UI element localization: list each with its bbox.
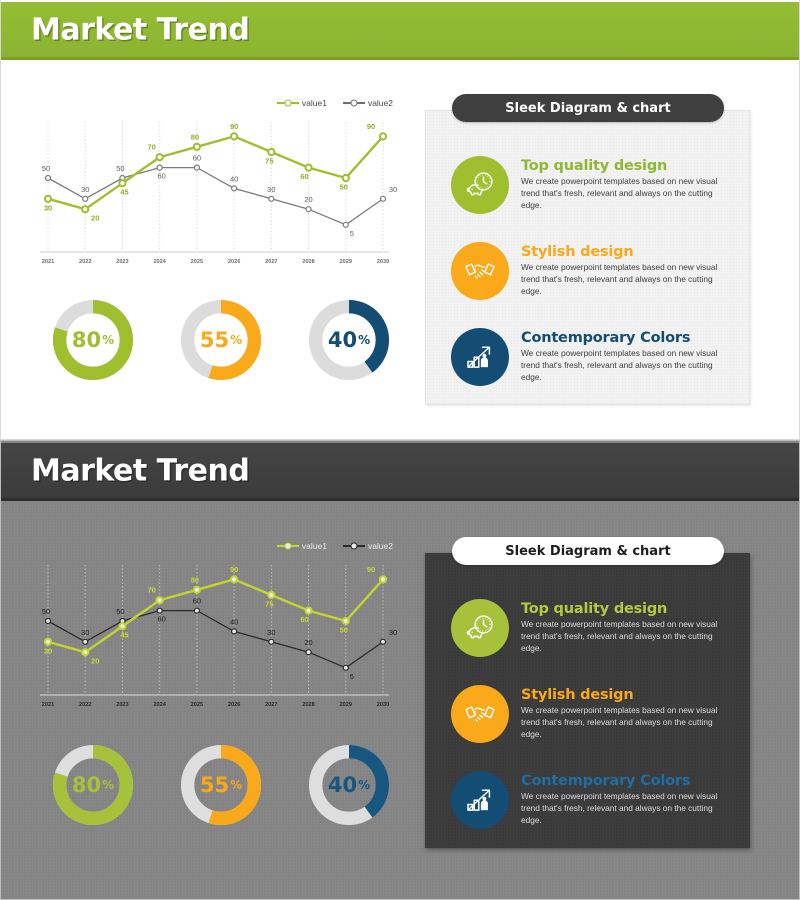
svg-text:60: 60 xyxy=(300,615,308,624)
feature-panel-light: Sleek Diagram & chart Top quality design… xyxy=(425,110,750,405)
donut-chart[interactable]: 40% xyxy=(305,741,393,829)
svg-text:40: 40 xyxy=(230,617,238,626)
svg-text:60: 60 xyxy=(193,154,201,163)
title-bar-light: Market Trend xyxy=(1,2,800,60)
feature-body: We create powerpoint templates based on … xyxy=(521,705,732,740)
svg-text:2029: 2029 xyxy=(340,259,352,265)
svg-text:90: 90 xyxy=(230,565,238,574)
donut-percent-label: 80% xyxy=(49,296,137,384)
feature-body: We create powerpoint templates based on … xyxy=(521,176,732,211)
growth-bar-person-icon xyxy=(451,771,509,829)
donut-percent-label: 40% xyxy=(305,296,393,384)
piggy-bank-clock-icon xyxy=(451,156,509,214)
svg-text:30: 30 xyxy=(267,185,275,194)
legend-item-value2[interactable]: value2 xyxy=(343,98,393,108)
growth-bar-person-icon xyxy=(451,328,509,386)
svg-text:70: 70 xyxy=(147,586,155,595)
feature-body: We create powerpoint templates based on … xyxy=(521,262,732,297)
svg-text:20: 20 xyxy=(91,657,99,666)
svg-text:30: 30 xyxy=(44,646,52,655)
svg-text:50: 50 xyxy=(340,183,348,192)
feature-body: We create powerpoint templates based on … xyxy=(521,619,732,654)
feature-item[interactable]: Contemporary Colors We create powerpoint… xyxy=(425,757,750,843)
svg-text:40: 40 xyxy=(230,174,238,183)
line-chart-light: value1 value2 50305060604030205303020457… xyxy=(15,96,415,276)
donut-chart[interactable]: 55% xyxy=(177,296,265,384)
legend-label: value1 xyxy=(302,541,327,551)
svg-text:2022: 2022 xyxy=(79,702,91,708)
svg-text:50: 50 xyxy=(116,164,124,173)
svg-text:60: 60 xyxy=(300,172,308,181)
svg-text:2027: 2027 xyxy=(265,259,277,265)
svg-text:50: 50 xyxy=(340,626,348,635)
handshake-icon xyxy=(451,242,509,300)
svg-text:30: 30 xyxy=(81,628,89,637)
donut-percent-label: 55% xyxy=(177,741,265,829)
svg-text:30: 30 xyxy=(267,628,275,637)
feature-list: Top quality design We create powerpoint … xyxy=(425,585,750,843)
svg-text:50: 50 xyxy=(42,607,50,616)
feature-body: We create powerpoint templates based on … xyxy=(521,791,732,826)
chart-legend: value1 value2 xyxy=(277,98,393,108)
slide-light: Market Trend value1 value2 5030506060403… xyxy=(0,0,800,440)
title-bar-dark: Market Trend xyxy=(1,443,800,501)
svg-text:60: 60 xyxy=(157,172,165,181)
feature-item[interactable]: Stylish design We create powerpoint temp… xyxy=(425,671,750,757)
donut-chart[interactable]: 40% xyxy=(305,296,393,384)
feature-item[interactable]: Stylish design We create powerpoint temp… xyxy=(425,228,750,314)
legend-marker-icon xyxy=(277,102,299,104)
donut-percent-label: 40% xyxy=(305,741,393,829)
page-title: Market Trend xyxy=(31,12,249,47)
donut-chart[interactable]: 80% xyxy=(49,741,137,829)
feature-heading: Contemporary Colors xyxy=(521,330,732,346)
feature-heading: Stylish design xyxy=(521,244,732,260)
svg-text:2026: 2026 xyxy=(228,702,240,708)
feature-heading: Top quality design xyxy=(521,158,732,174)
donut-percent-label: 80% xyxy=(49,741,137,829)
donut-chart[interactable]: 55% xyxy=(177,741,265,829)
chart-svg: 5030506060403020530302045708090756050902… xyxy=(15,553,415,718)
svg-text:2022: 2022 xyxy=(79,259,91,265)
svg-text:20: 20 xyxy=(304,195,312,204)
svg-text:2023: 2023 xyxy=(116,259,128,265)
svg-text:60: 60 xyxy=(157,615,165,624)
chart-legend: value1 value2 xyxy=(277,541,393,551)
slide-dark: Market Trend value1 value2 5030506060403… xyxy=(0,440,800,900)
svg-text:5: 5 xyxy=(350,229,354,238)
svg-text:2021: 2021 xyxy=(42,259,54,265)
legend-label: value2 xyxy=(368,541,393,551)
svg-text:50: 50 xyxy=(116,607,124,616)
svg-text:2026: 2026 xyxy=(228,259,240,265)
legend-marker-icon xyxy=(343,102,365,104)
svg-text:20: 20 xyxy=(91,214,99,223)
svg-text:70: 70 xyxy=(147,143,155,152)
svg-text:2028: 2028 xyxy=(302,702,314,708)
svg-text:2030: 2030 xyxy=(377,702,389,708)
handshake-icon xyxy=(451,685,509,743)
feature-heading: Contemporary Colors xyxy=(521,773,732,789)
svg-text:45: 45 xyxy=(120,631,128,640)
svg-text:50: 50 xyxy=(42,164,50,173)
svg-text:30: 30 xyxy=(81,185,89,194)
svg-text:75: 75 xyxy=(265,600,273,609)
svg-text:30: 30 xyxy=(389,185,397,194)
piggy-bank-clock-icon xyxy=(451,599,509,657)
feature-item[interactable]: Contemporary Colors We create powerpoint… xyxy=(425,314,750,400)
donut-percent-label: 55% xyxy=(177,296,265,384)
svg-text:60: 60 xyxy=(193,597,201,606)
feature-list: Top quality design We create powerpoint … xyxy=(425,142,750,400)
svg-text:90: 90 xyxy=(367,122,375,131)
feature-item[interactable]: Top quality design We create powerpoint … xyxy=(425,585,750,671)
line-chart-dark: value1 value2 50305060604030205303020457… xyxy=(15,539,415,719)
donut-chart[interactable]: 80% xyxy=(49,296,137,384)
feature-heading: Stylish design xyxy=(521,687,732,703)
svg-text:45: 45 xyxy=(120,188,128,197)
svg-text:30: 30 xyxy=(389,628,397,637)
legend-item-value2[interactable]: value2 xyxy=(343,541,393,551)
panel-title-pill: Sleek Diagram & chart xyxy=(452,94,724,122)
svg-text:80: 80 xyxy=(191,132,199,141)
legend-item-value1[interactable]: value1 xyxy=(277,541,327,551)
donut-group-dark: 80% 55% 40% xyxy=(49,741,393,829)
svg-text:2023: 2023 xyxy=(116,702,128,708)
svg-text:90: 90 xyxy=(230,122,238,131)
svg-text:90: 90 xyxy=(367,565,375,574)
svg-text:2025: 2025 xyxy=(191,702,203,708)
donut-group-light: 80% 55% 40% xyxy=(49,296,393,384)
feature-body: We create powerpoint templates based on … xyxy=(521,348,732,383)
legend-label: value1 xyxy=(302,98,327,108)
page-title: Market Trend xyxy=(31,453,249,488)
svg-text:2021: 2021 xyxy=(42,702,54,708)
svg-text:2029: 2029 xyxy=(340,702,352,708)
svg-text:2025: 2025 xyxy=(191,259,203,265)
svg-text:2024: 2024 xyxy=(153,259,166,265)
feature-panel-dark: Sleek Diagram & chart Top quality design… xyxy=(425,553,750,848)
legend-marker-icon xyxy=(277,545,299,547)
svg-text:2028: 2028 xyxy=(302,259,314,265)
infographic-page: Market Trend value1 value2 5030506060403… xyxy=(0,0,800,900)
svg-text:5: 5 xyxy=(350,672,354,681)
svg-text:80: 80 xyxy=(191,575,199,584)
legend-label: value2 xyxy=(368,98,393,108)
svg-text:2027: 2027 xyxy=(265,702,277,708)
panel-title-pill: Sleek Diagram & chart xyxy=(452,537,724,565)
svg-text:2024: 2024 xyxy=(153,702,166,708)
svg-text:30: 30 xyxy=(44,203,52,212)
chart-svg: 5030506060403020530302045708090756050902… xyxy=(15,110,415,275)
legend-item-value1[interactable]: value1 xyxy=(277,98,327,108)
svg-text:20: 20 xyxy=(304,638,312,647)
svg-text:2030: 2030 xyxy=(377,259,389,265)
svg-text:75: 75 xyxy=(265,157,273,166)
feature-heading: Top quality design xyxy=(521,601,732,617)
feature-item[interactable]: Top quality design We create powerpoint … xyxy=(425,142,750,228)
legend-marker-icon xyxy=(343,545,365,547)
